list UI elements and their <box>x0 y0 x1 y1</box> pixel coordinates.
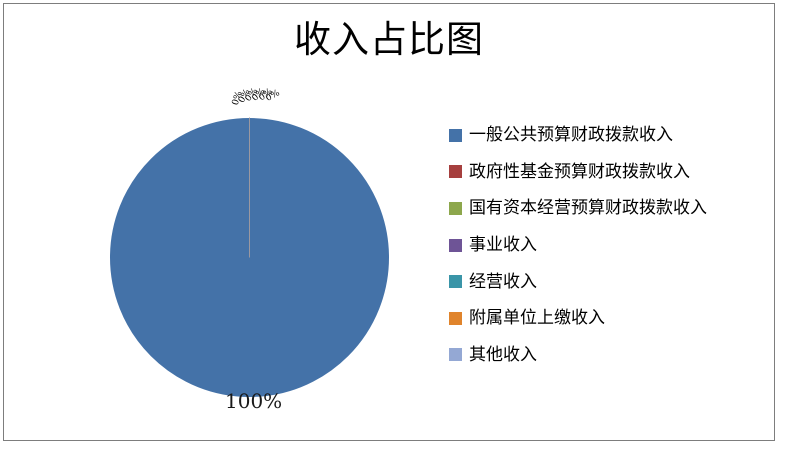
pie-plot-area: 100% 0% 0% 0% 0% 0% 0% <box>104 84 404 414</box>
legend-swatch-icon <box>449 129 462 142</box>
legend-swatch-icon <box>449 165 462 178</box>
legend-swatch-icon <box>449 202 462 215</box>
legend-item-subsidiary-remittance[interactable]: 附属单位上缴收入 <box>449 300 769 337</box>
legend-item-general-public-budget[interactable]: 一般公共预算财政拨款收入 <box>449 117 769 154</box>
pie-slice-label-100-percent: 100% <box>225 390 282 412</box>
pie-svg <box>109 117 390 398</box>
legend-swatch-icon <box>449 275 462 288</box>
pie-graphic: 100% <box>109 117 390 398</box>
legend-item-label: 附属单位上缴收入 <box>469 308 605 328</box>
legend-swatch-icon <box>449 312 462 325</box>
legend-swatch-icon <box>449 239 462 252</box>
legend-item-label: 政府性基金预算财政拨款收入 <box>469 162 690 182</box>
legend-item-label: 其他收入 <box>469 345 537 365</box>
chart-frame: 收入占比图 100% 0% 0% 0% 0% 0% 0% 一般公共预算财政拨款收… <box>3 3 775 441</box>
legend-item-label: 事业收入 <box>469 235 537 255</box>
legend-swatch-icon <box>449 348 462 361</box>
legend-item-business-income[interactable]: 事业收入 <box>449 227 769 264</box>
chart-title: 收入占比图 <box>4 18 774 62</box>
legend-item-operating-income[interactable]: 经营收入 <box>449 263 769 300</box>
legend-item-label: 经营收入 <box>469 272 537 292</box>
pie-zero-label-cluster: 0% 0% 0% 0% 0% 0% <box>231 86 301 112</box>
legend-item-government-fund-budget[interactable]: 政府性基金预算财政拨款收入 <box>449 154 769 191</box>
legend-item-label: 一般公共预算财政拨款收入 <box>469 125 673 145</box>
chart-legend: 一般公共预算财政拨款收入 政府性基金预算财政拨款收入 国有资本经营预算财政拨款收… <box>449 117 769 373</box>
legend-item-label: 国有资本经营预算财政拨款收入 <box>469 198 707 218</box>
legend-item-other-income[interactable]: 其他收入 <box>449 337 769 374</box>
legend-item-state-capital-budget[interactable]: 国有资本经营预算财政拨款收入 <box>449 190 769 227</box>
